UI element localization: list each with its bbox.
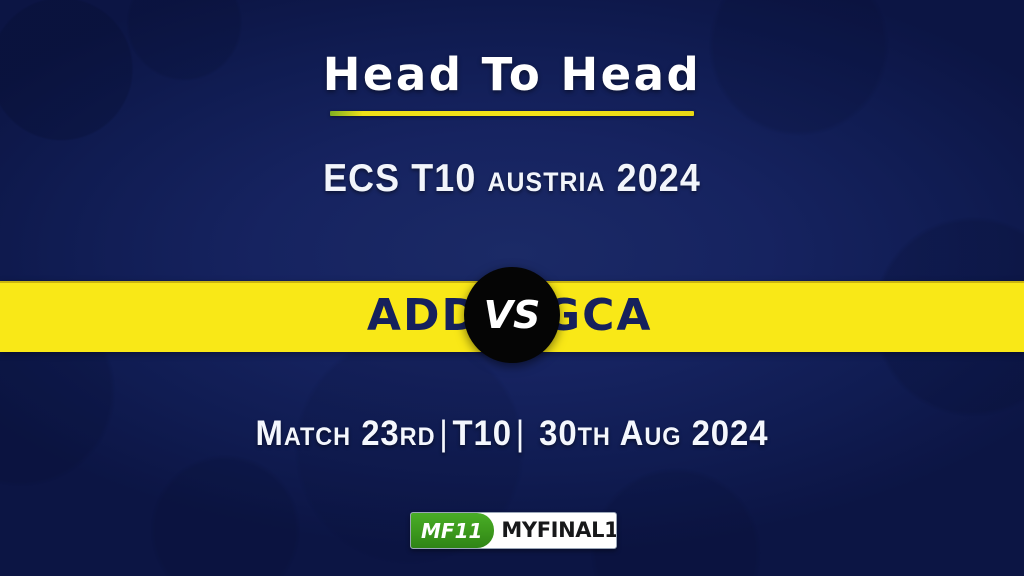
tournament-rest: Austria 2024 [487, 157, 700, 200]
separator-right: | [516, 414, 525, 454]
tournament-lead: ECS T10 [323, 157, 487, 200]
match-number: 23rd [361, 414, 435, 453]
logo-mark: MF11 [411, 513, 494, 548]
match-format: T10 [453, 414, 513, 453]
match-label: Match [255, 414, 361, 453]
title-block: Head To Head [0, 52, 1024, 116]
logo-word-text: MYFINAL11 [501, 520, 617, 541]
vs-badge: VS [464, 267, 560, 363]
brand-logo[interactable]: MF11 MYFINAL11 [410, 512, 617, 549]
match-date: 30th Aug 2024 [539, 414, 768, 453]
logo-mark-text: MF11 [421, 521, 482, 541]
head-to-head-poster: Head To Head ECS T10 Austria 2024 ADD GC… [0, 0, 1024, 576]
separator-left: | [439, 414, 448, 454]
page-title: Head To Head [319, 52, 706, 97]
tournament-name: ECS T10 Austria 2024 [41, 157, 983, 201]
title-underline [330, 111, 694, 116]
logo-wordmark: MYFINAL11 [496, 513, 617, 548]
vs-label: VS [484, 296, 541, 334]
match-details: Match 23rd|T10| 30th Aug 2024 [31, 414, 994, 454]
